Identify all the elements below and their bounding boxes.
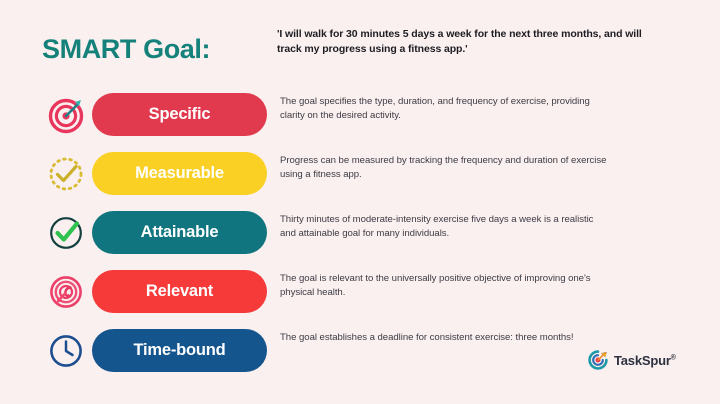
criteria-description: The goal is relevant to the universally … [280,272,610,300]
list-item-relevant: Relevant The goal is relevant to the uni… [0,264,720,323]
circle-check-icon [46,212,88,254]
criteria-description: Progress can be measured by tracking the… [280,154,610,182]
criteria-label: Relevant [146,282,213,301]
criteria-label: Specific [149,105,211,124]
criteria-pill-time-bound[interactable]: Time-bound [92,329,267,372]
criteria-description: Thirty minutes of moderate-intensity exe… [280,213,610,241]
page-title: SMART Goal: [42,34,210,65]
infographic-canvas: SMART Goal: 'I will walk for 30 minutes … [0,0,720,404]
target-arrow-spiral-icon [46,271,88,313]
taskspur-target-logo-icon [588,350,608,370]
criteria-description: The goal specifies the type, duration, a… [280,95,610,123]
logo-name: TaskSpur [614,353,671,368]
list-item-measurable: Measurable Progress can be measured by t… [0,146,720,205]
criteria-pill-specific[interactable]: Specific [92,93,267,136]
registered-trademark-symbol: ® [671,354,676,361]
dashed-circle-check-icon [46,153,88,195]
criteria-label: Measurable [135,164,224,183]
header: SMART Goal: 'I will walk for 30 minutes … [0,16,720,72]
taskspur-logo[interactable]: TaskSpur® [588,347,676,373]
target-dart-icon [46,94,88,136]
list-item-specific: Specific The goal specifies the type, du… [0,87,720,146]
clock-icon [46,330,88,372]
criteria-description: The goal establishes a deadline for cons… [280,331,610,345]
logo-wordmark: TaskSpur® [614,353,676,368]
list-item-attainable: Attainable Thirty minutes of moderate-in… [0,205,720,264]
criteria-label: Time-bound [133,341,225,360]
criteria-pill-relevant[interactable]: Relevant [92,270,267,313]
criteria-pill-measurable[interactable]: Measurable [92,152,267,195]
criteria-label: Attainable [141,223,219,242]
criteria-pill-attainable[interactable]: Attainable [92,211,267,254]
smart-criteria-list: Specific The goal specifies the type, du… [0,87,720,382]
goal-statement-quote: 'I will walk for 30 minutes 5 days a wee… [277,27,669,57]
